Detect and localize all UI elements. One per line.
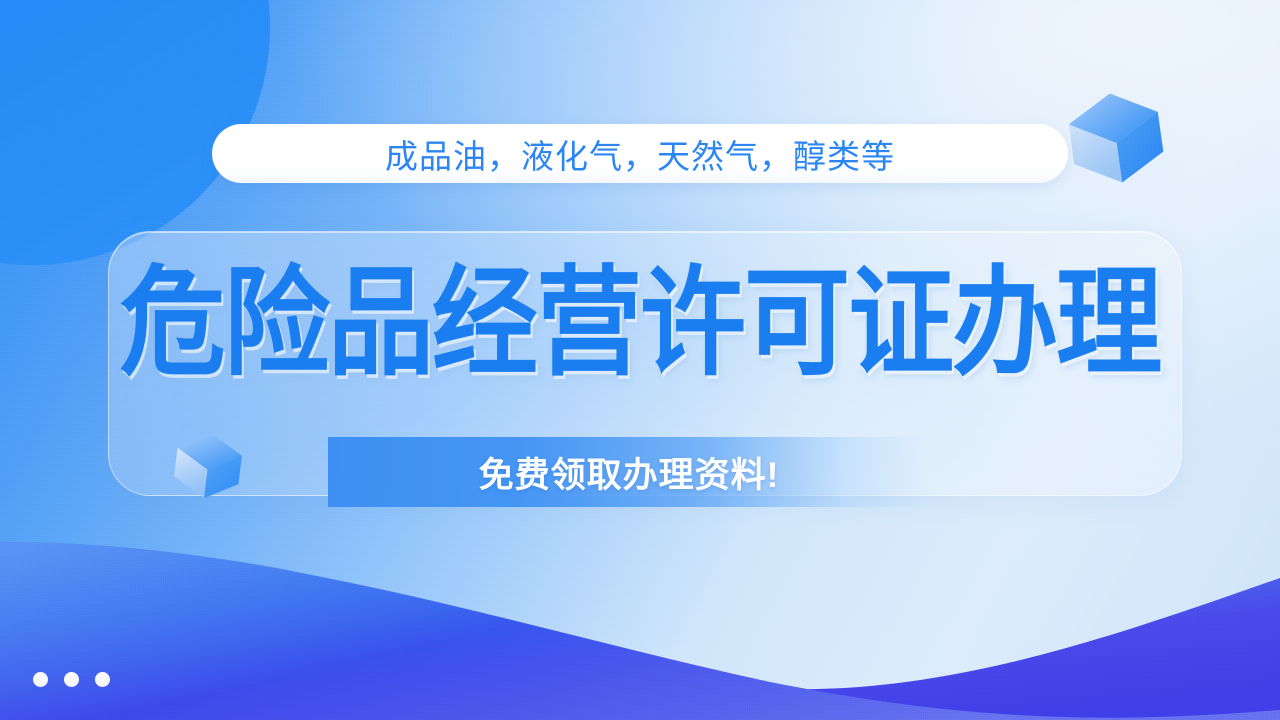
cube-3d-icon-right	[1060, 82, 1173, 195]
tagline-text: 成品油，液化气，天然气，醇类等	[385, 130, 895, 178]
page-title: 危险品经营许可证办理	[0, 268, 1280, 380]
subtitle-text: 免费领取办理资料!	[328, 447, 930, 498]
headline-text: 危险品经营许可证办理	[120, 260, 1160, 388]
promo-banner: 成品油，液化气，天然气，醇类等 危险品经营许可证办理 免费领取办理资料!	[0, 0, 1280, 720]
tagline-pill: 成品油，液化气，天然气，醇类等	[212, 124, 1068, 183]
carousel-dot-3[interactable]	[95, 672, 110, 687]
carousel-dot-1[interactable]	[33, 672, 48, 687]
subtitle-bar: 免费领取办理资料!	[328, 437, 930, 507]
carousel-dots[interactable]	[33, 672, 110, 687]
carousel-dot-2[interactable]	[64, 672, 79, 687]
wave-shape-front	[0, 470, 1280, 720]
